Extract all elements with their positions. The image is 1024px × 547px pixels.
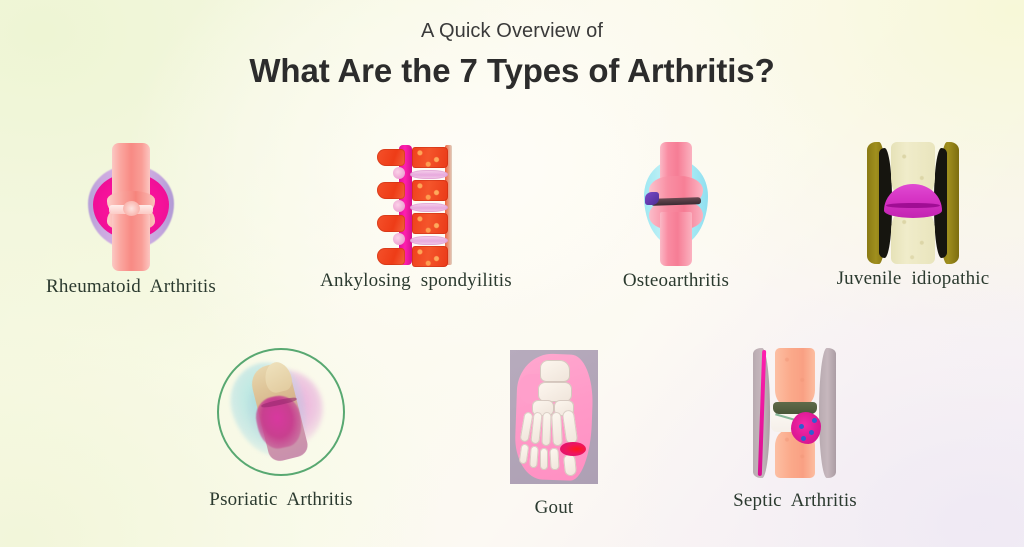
caption-gout: Gout bbox=[535, 497, 574, 519]
type-card-ankylosing: Ankylosing spondyilitis bbox=[310, 145, 522, 265]
phalanx-bone bbox=[529, 446, 539, 469]
psoriatic-finger-illustration bbox=[217, 348, 345, 476]
type-card-gout: Gout bbox=[494, 350, 614, 484]
rheumatoid-joint-illustration bbox=[85, 143, 177, 271]
spine-illustration bbox=[377, 145, 455, 265]
metatarsal-bone bbox=[541, 412, 551, 446]
osteoarthritis-joint-illustration bbox=[636, 142, 716, 266]
facet-joint bbox=[393, 233, 405, 245]
caption-ankylosing: Ankylosing spondyilitis bbox=[320, 270, 512, 292]
facet-joint bbox=[393, 200, 405, 212]
facet-joint bbox=[393, 167, 405, 179]
spinous-process bbox=[377, 248, 405, 265]
caption-rheumatoid: Rheumatoid Arthritis bbox=[46, 276, 216, 298]
great-toe-phalanx bbox=[563, 453, 577, 476]
caption-psoriatic: Psoriatic Arthritis bbox=[209, 489, 352, 511]
type-card-psoriatic: Psoriatic Arthritis bbox=[192, 348, 370, 476]
type-card-rheumatoid: Rheumatoid Arthritis bbox=[44, 143, 218, 271]
bone-erosion-shape bbox=[123, 201, 140, 216]
tarsal-bone bbox=[538, 382, 572, 402]
caption-juvenile: Juvenile idiopathic bbox=[837, 268, 990, 290]
vertebra-body bbox=[412, 147, 448, 168]
bacteria-dot bbox=[812, 418, 817, 423]
caption-septic: Septic Arthritis bbox=[733, 490, 857, 512]
caption-osteoarthritis: Osteoarthritis bbox=[623, 270, 729, 292]
osteophyte-shape bbox=[645, 192, 659, 205]
type-card-osteoarthritis: Osteoarthritis bbox=[600, 142, 752, 266]
spinous-process bbox=[377, 149, 405, 166]
bacteria-dot bbox=[801, 436, 806, 441]
phalanx-bone bbox=[540, 448, 548, 470]
intervertebral-disc bbox=[410, 236, 448, 245]
bacteria-dot bbox=[809, 430, 814, 435]
intervertebral-disc bbox=[410, 170, 448, 179]
infographic-canvas: A Quick Overview of What Are the 7 Types… bbox=[0, 0, 1024, 547]
tarsal-bone bbox=[540, 360, 570, 382]
vertebra-body bbox=[412, 213, 448, 234]
metatarsal-bone bbox=[551, 412, 563, 446]
gout-inflamed-joint bbox=[560, 442, 586, 456]
septic-joint-illustration bbox=[749, 348, 841, 478]
header-block: A Quick Overview of What Are the 7 Types… bbox=[0, 0, 1024, 90]
upper-bone-shape bbox=[775, 348, 815, 406]
intervertebral-disc bbox=[410, 203, 448, 212]
phalanx-bone bbox=[549, 448, 559, 470]
bacteria-dot bbox=[799, 424, 804, 429]
juvenile-joint-illustration bbox=[865, 142, 961, 264]
spinous-process bbox=[377, 215, 405, 232]
page-title: What Are the 7 Types of Arthritis? bbox=[0, 52, 1024, 90]
infection-mass-shape bbox=[791, 412, 821, 444]
spinous-process bbox=[377, 182, 405, 199]
type-card-juvenile: Juvenile idiopathic bbox=[818, 142, 1008, 264]
vertebra-body bbox=[412, 180, 448, 201]
gout-foot-illustration bbox=[510, 350, 598, 484]
eyebrow-text: A Quick Overview of bbox=[0, 20, 1024, 43]
capsule-right-shape bbox=[819, 348, 836, 478]
joint-line-shape bbox=[886, 203, 940, 208]
lower-bone-shaft bbox=[660, 212, 692, 266]
lower-bone-shaft bbox=[112, 213, 150, 271]
type-card-septic: Septic Arthritis bbox=[715, 348, 875, 478]
vertebra-body bbox=[412, 246, 448, 267]
